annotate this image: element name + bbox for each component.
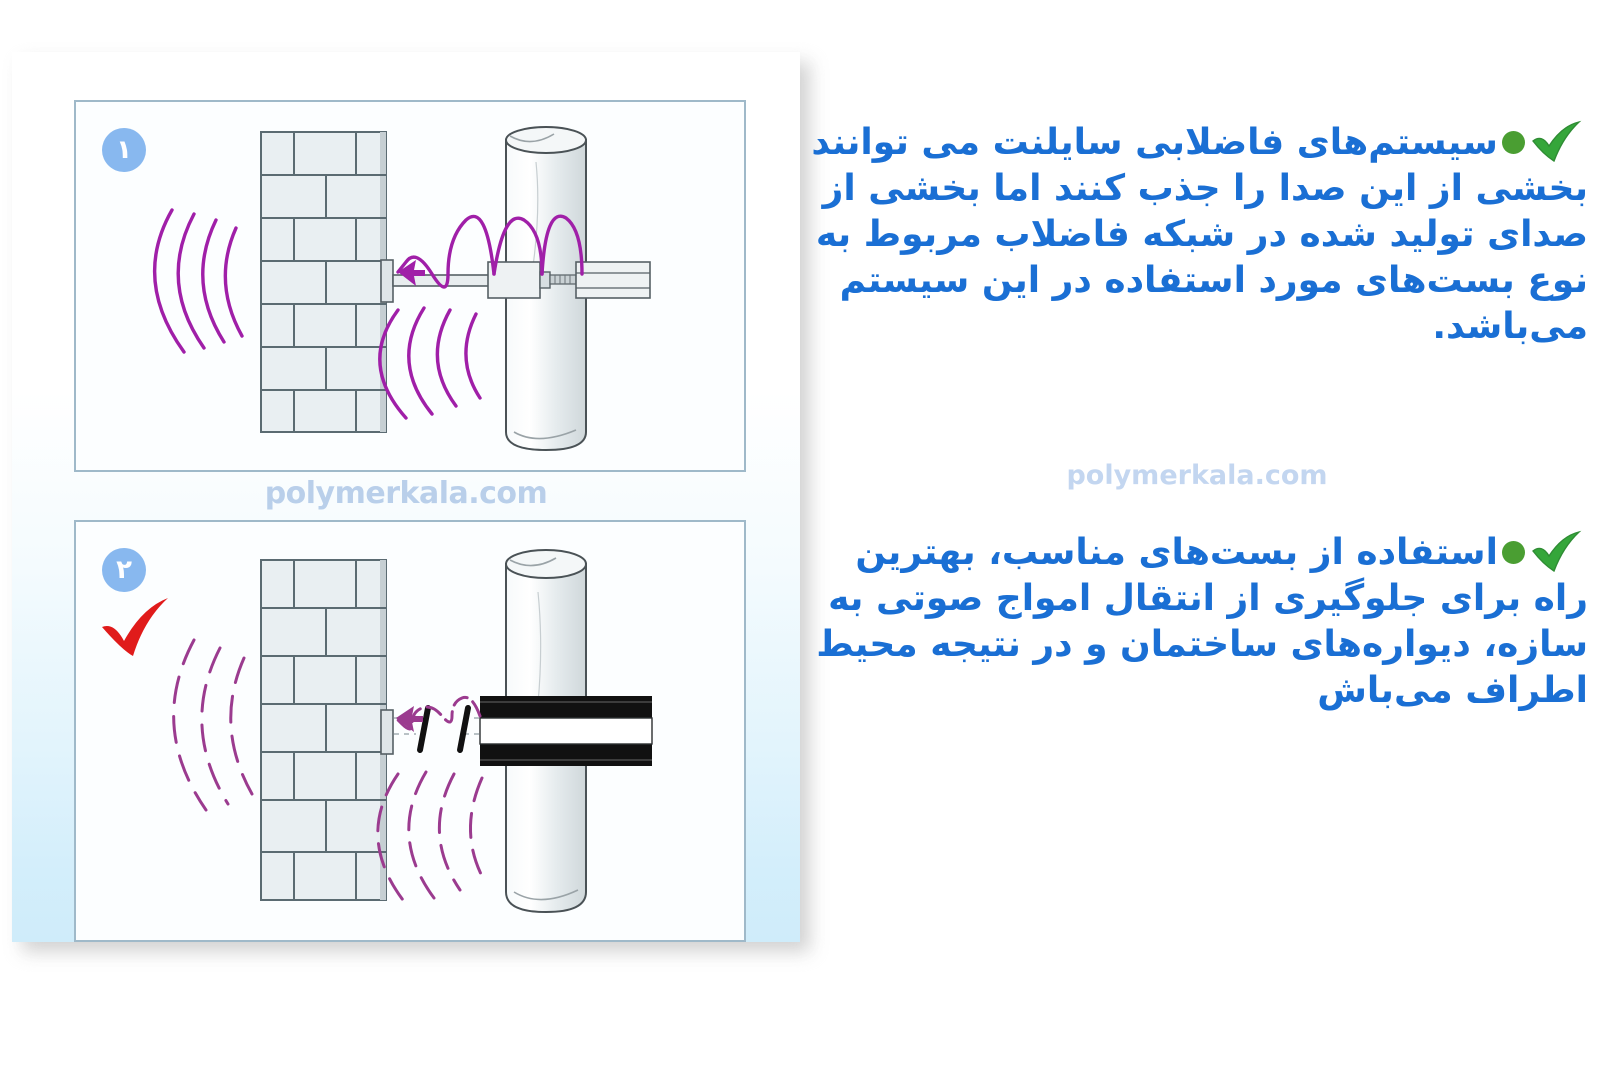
- sound-waves-lower: [378, 772, 484, 904]
- green-check-icon: [1530, 120, 1582, 164]
- sound-waves-left: [174, 640, 252, 810]
- bullet-text-absorption: سیستم‌های فاضلابی سایلنت می توانند بخشی …: [811, 122, 1588, 347]
- bullet-marks-two: [1498, 530, 1582, 574]
- illustration-card: ١: [12, 52, 800, 942]
- brick-wall: [261, 132, 386, 432]
- step-badge-two-label: ٢: [116, 557, 132, 583]
- green-dot-icon: [1502, 131, 1525, 154]
- step-badge-two: ٢: [102, 548, 146, 592]
- green-check-icon: [1530, 530, 1582, 574]
- sound-waves-lower: [380, 308, 480, 418]
- text-column: سیستم‌های فاضلابی سایلنت می توانند بخشی …: [806, 52, 1588, 952]
- step-badge-one: ١: [102, 128, 146, 172]
- card-watermark: polymerkala.com: [12, 476, 800, 511]
- step-badge-one-label: ١: [116, 137, 132, 163]
- diagram-panel-rigid-clamp: ١: [74, 100, 746, 472]
- red-check-icon: [98, 594, 176, 664]
- diagram-panel-isolated-clamp: ٢: [74, 520, 746, 942]
- diagram-isolated-clamp: [76, 522, 744, 940]
- text-column-watermark: polymerkala.com: [806, 460, 1588, 491]
- bullet-text-clamps: استفاده از بست‌های مناسب، بهترین راه برا…: [816, 532, 1588, 711]
- bullet-item-clamps: استفاده از بست‌های مناسب، بهترین راه برا…: [806, 530, 1588, 714]
- rigid-pipe-clamp: [381, 260, 650, 302]
- green-dot-icon: [1502, 541, 1525, 564]
- bullet-item-absorption: سیستم‌های فاضلابی سایلنت می توانند بخشی …: [806, 120, 1588, 350]
- page-canvas: ١: [0, 0, 1600, 1066]
- acoustic-pipe-clamp: [381, 696, 652, 766]
- diagram-rigid-clamp: [76, 102, 744, 470]
- bullet-marks-one: [1498, 120, 1582, 164]
- sound-waves-left: [155, 210, 242, 352]
- brick-wall: [261, 560, 386, 900]
